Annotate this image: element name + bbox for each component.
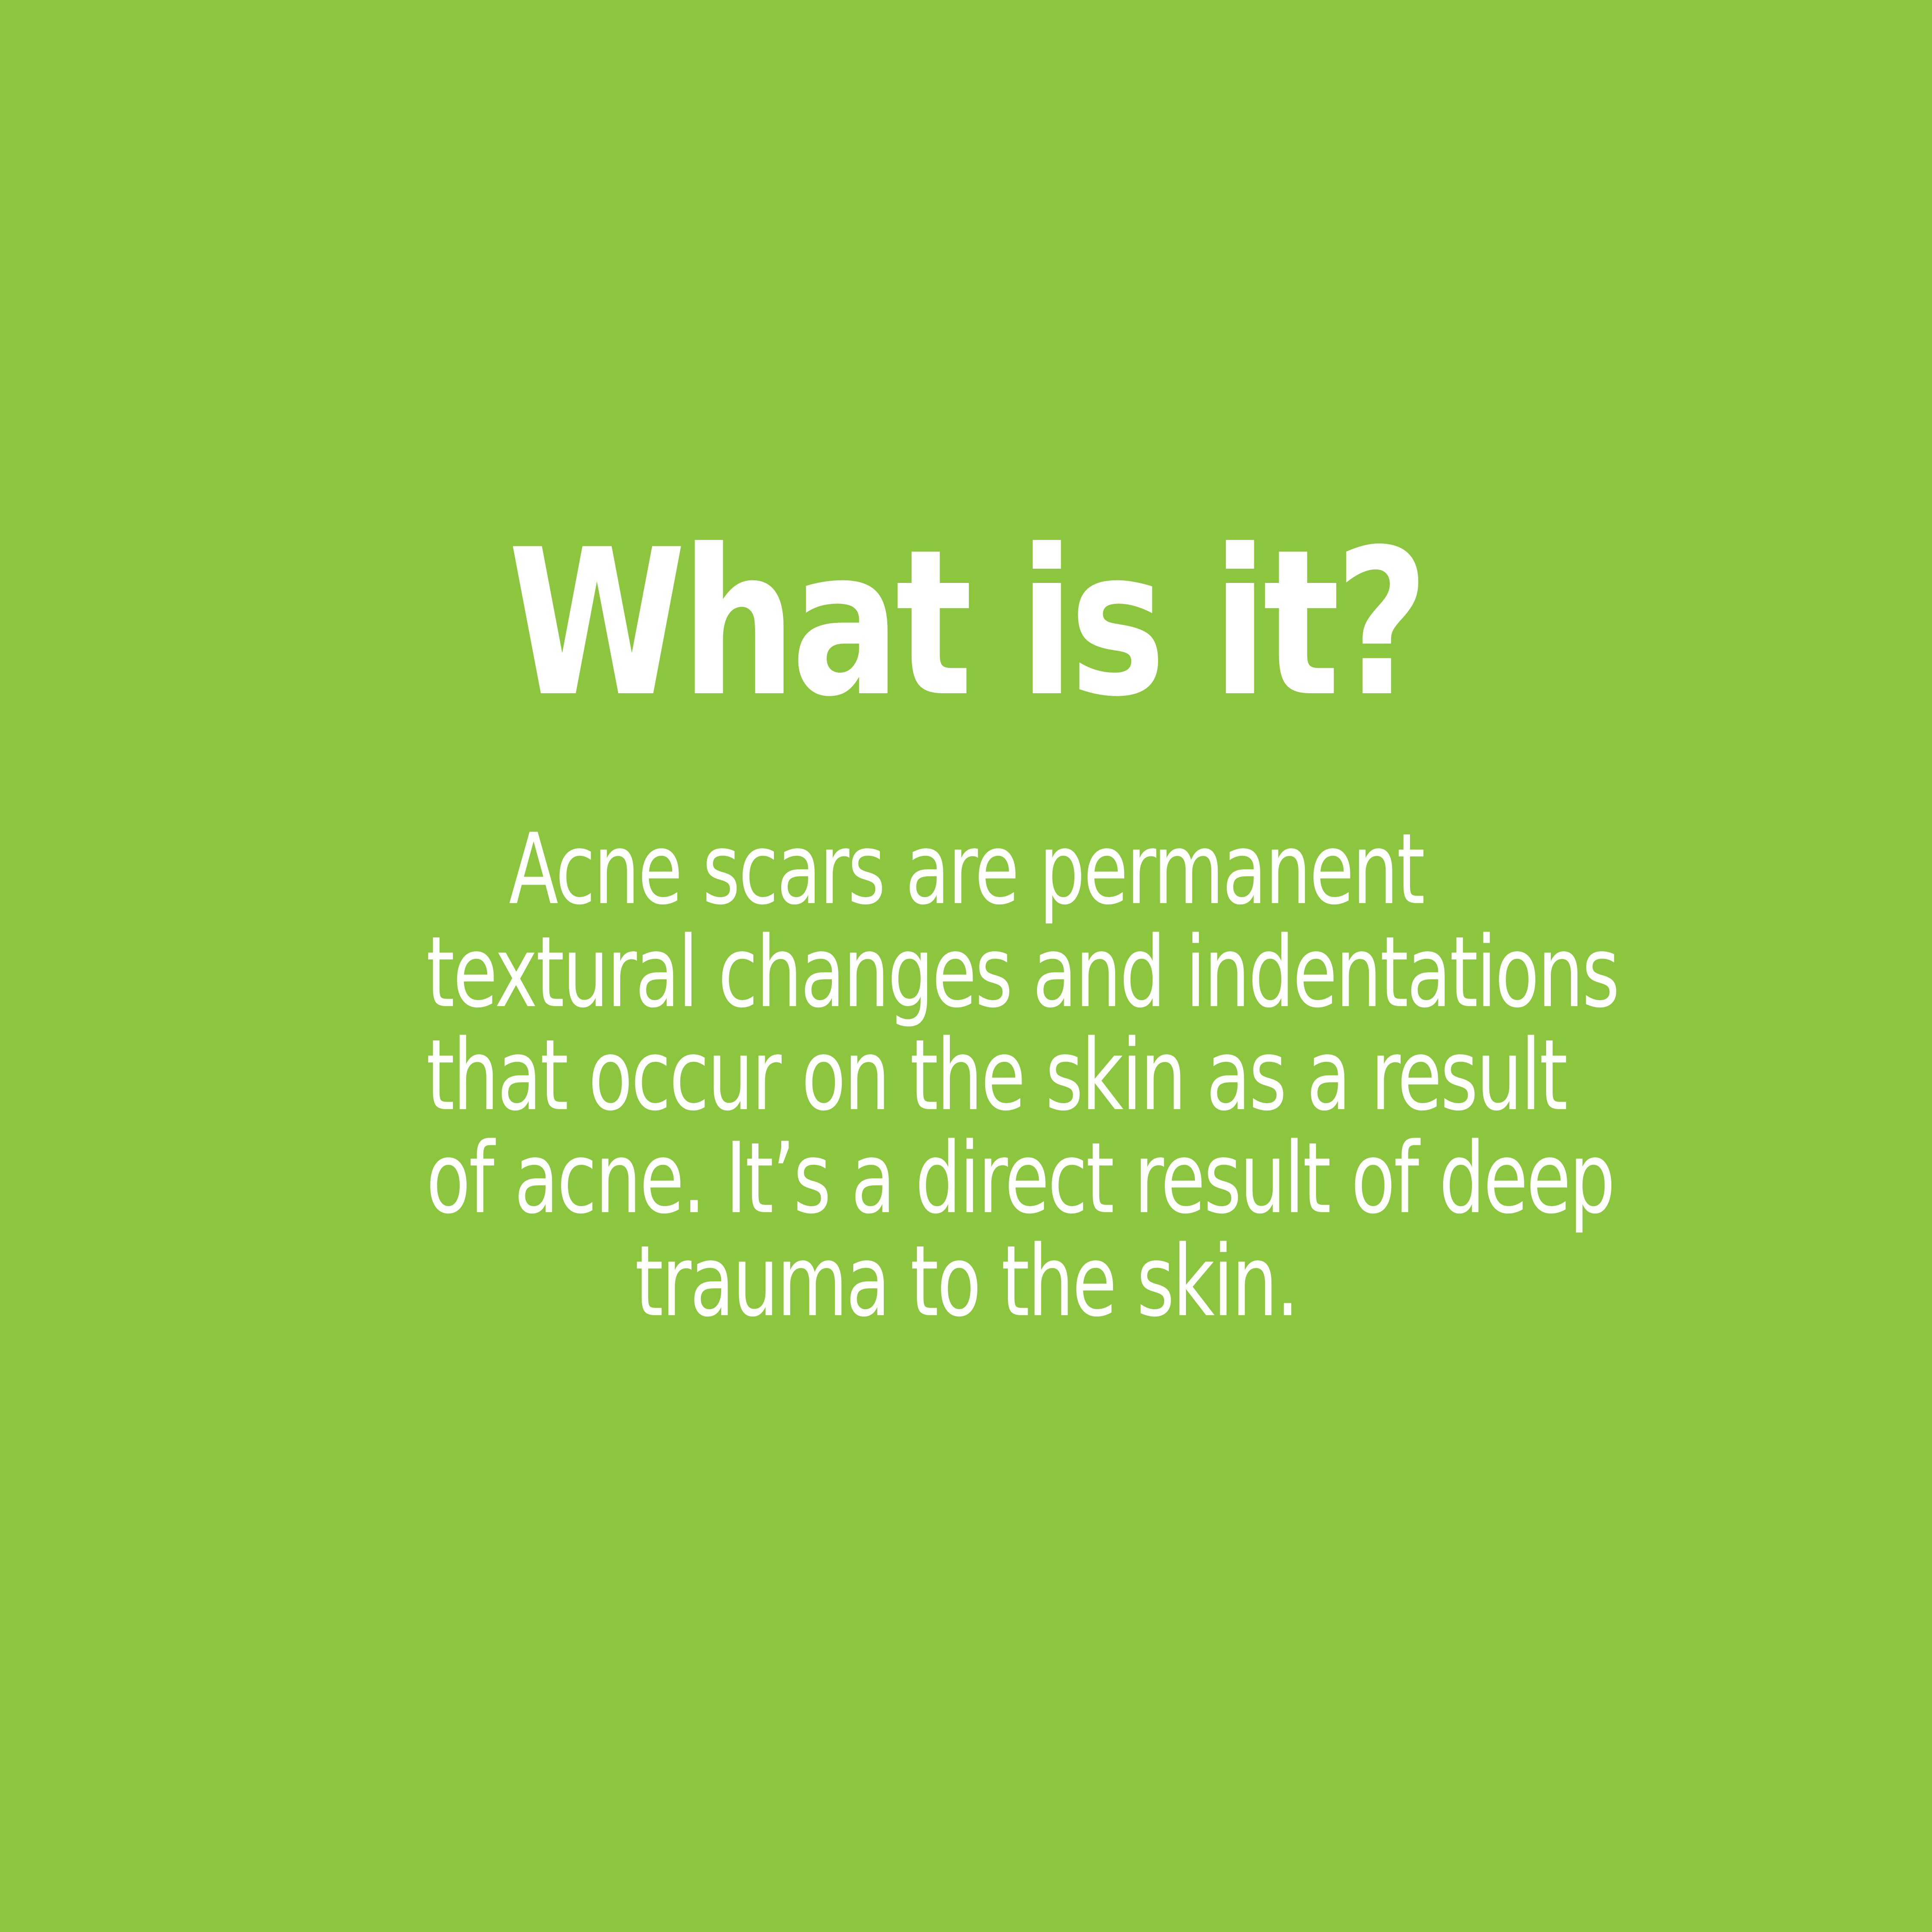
info-card-slide: What is it? Acne scars are permanent tex… [0, 0, 1932, 1932]
body-line: of acne. It’s a direct result of deep [426, 1127, 1506, 1230]
body-text-container: Acne scars are permanent textural change… [237, 818, 1696, 1333]
body-line: Acne scars are permanent [426, 818, 1506, 921]
body-line: textural changes and indentations [426, 921, 1506, 1024]
body-line: that occur on the skin as a result [426, 1024, 1506, 1127]
page-title: What is it? [193, 511, 1739, 737]
body-line: trauma to the skin. [426, 1230, 1506, 1333]
heading-container: What is it? [0, 511, 1932, 737]
